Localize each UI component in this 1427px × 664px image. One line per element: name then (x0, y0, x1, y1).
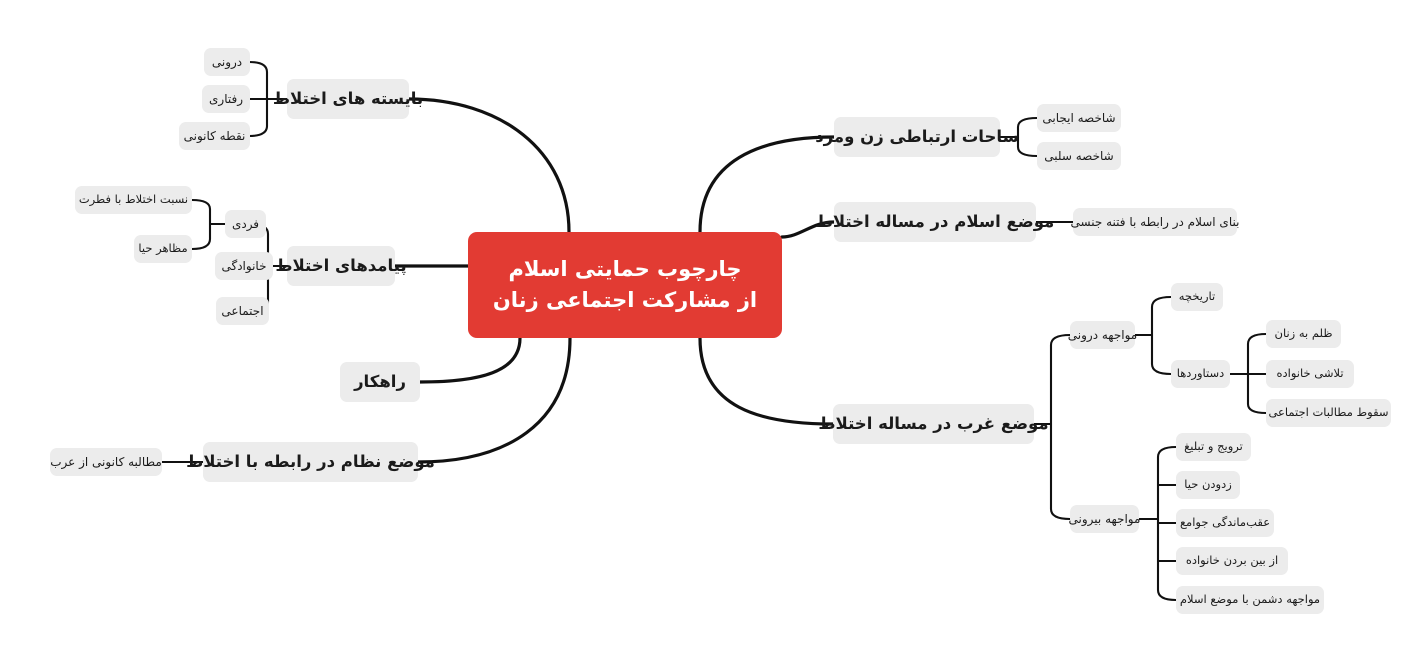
link-root-to-sahat (700, 137, 834, 232)
sublink-dastavardha-bracket (1248, 334, 1266, 413)
mindmap-canvas: چارچوب حمایتی اسلام از مشارکت اجتماعی زن… (0, 0, 1427, 664)
child-sahat-shakhese-salbi[interactable]: شاخصه سلبی (1037, 142, 1121, 170)
child-birooni-mavajehe-doshman[interactable]: مواجهه دشمن با موضع اسلام (1176, 586, 1324, 614)
root-title-line-1: چارچوب حمایتی اسلام (493, 254, 757, 286)
child-payamadha-ejtemaei[interactable]: اجتماعی (216, 297, 269, 325)
child-birooni-zodoodan-haya[interactable]: زدودن حیا (1176, 471, 1240, 499)
child-dastavardha-soghoot-motalebat[interactable]: سقوط مطالبات اجتماعی (1266, 399, 1391, 427)
link-root-to-mozeh-nezam (418, 338, 570, 462)
sublink-fardi-bracket (192, 200, 210, 249)
child-bayesteha-noghte-kanooni[interactable]: نقطه کانونی (179, 122, 250, 150)
child-gharb-mavajehe-darooni[interactable]: مواجهه درونی (1070, 321, 1135, 349)
child-mozeh-nezam-motalebe-kanooni[interactable]: مطالبه کانونی از عرب (50, 448, 162, 476)
sublink-mavajehe-darooni-bracket (1152, 297, 1171, 374)
child-payamadha-khanevadegi[interactable]: خانوادگی (215, 252, 273, 280)
sublink-mavajehe-birooni-bracket (1158, 447, 1176, 600)
link-root-to-mozeh-gharb (700, 338, 833, 424)
link-root-to-bayesteha (409, 99, 569, 232)
child-gharb-mavajehe-birooni[interactable]: مواجهه بیرونی (1070, 505, 1139, 533)
child-dastavardha-zolm-be-zanan[interactable]: ظلم به زنان (1266, 320, 1341, 348)
sublink-sahat-bracket (1018, 118, 1037, 156)
child-fardi-nesbat-ekhtelat-fetrat[interactable]: نسبت اختلاط با فطرت (75, 186, 192, 214)
child-birooni-az-bein-bordan-khanevade[interactable]: از بین بردن خانواده (1176, 547, 1288, 575)
branch-mozeh-eslam[interactable]: موضع اسلام در مساله اختلاط (834, 202, 1036, 242)
child-darooni-tarikhche[interactable]: تاریخچه (1171, 283, 1223, 311)
branch-mozeh-gharb[interactable]: موضع غرب در مساله اختلاط (833, 404, 1034, 444)
link-root-to-rahkar (420, 338, 520, 382)
child-birooni-aghabmandegi-javame[interactable]: عقب‌ماندگی جوامع (1176, 509, 1274, 537)
branch-rahkar[interactable]: راهکار (340, 362, 420, 402)
root-node[interactable]: چارچوب حمایتی اسلام از مشارکت اجتماعی زن… (468, 232, 782, 338)
branch-payamadha[interactable]: پیامدهای اختلاط (287, 246, 395, 286)
branch-sahat[interactable]: ساحات ارتباطی زن ومرد (834, 117, 1000, 157)
child-darooni-dastavardha[interactable]: دستاوردها (1171, 360, 1230, 388)
sublink-bayesteha-bracket (249, 62, 267, 136)
child-bayesteha-darooni[interactable]: درونی (204, 48, 250, 76)
child-dastavardha-talashi-khanevade[interactable]: تلاشی خانواده (1266, 360, 1354, 388)
root-title-line-2: از مشارکت اجتماعی زنان (493, 285, 757, 317)
child-birooni-tarvij-tabligh[interactable]: ترویج و تبلیغ (1176, 433, 1251, 461)
child-bayesteha-raftari[interactable]: رفتاری (202, 85, 250, 113)
branch-bayesteha[interactable]: بایسته های اختلاط (287, 79, 409, 119)
child-mozeh-eslam-banaye-eslam[interactable]: بنای اسلام در رابطه با فتنه جنسی (1073, 208, 1237, 236)
sublink-mozeh-gharb-bracket (1051, 335, 1070, 519)
child-payamadha-fardi[interactable]: فردی (225, 210, 266, 238)
child-sahat-shakhese-ijabi[interactable]: شاخصه ایجابی (1037, 104, 1121, 132)
child-fardi-mazaher-haya[interactable]: مظاهر حیا (134, 235, 192, 263)
branch-mozeh-nezam[interactable]: موضع نظام در رابطه با اختلاط (203, 442, 418, 482)
